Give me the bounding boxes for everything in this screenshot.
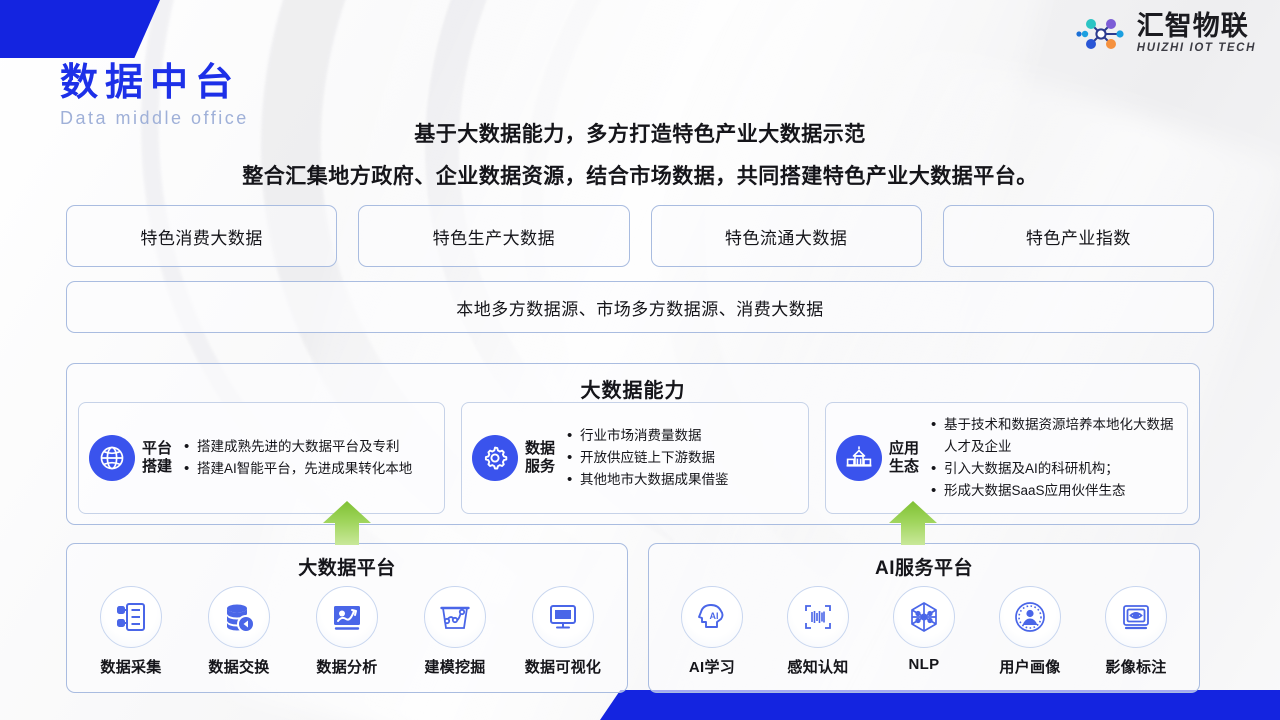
neural-network-icon [893,586,955,648]
database-exchange-icon [208,586,270,648]
platform-item-data-visualization[interactable]: 数据可视化 [513,586,613,677]
capability-bullets-data-service: 行业市场消费量数据 开放供应链上下游数据 其他地市大数据成果借鉴 [565,425,800,491]
platform-item-nlp[interactable]: NLP [874,586,974,677]
corner-accent-bottom-right [600,690,1280,720]
headline-line-1: 基于大数据能力，多方打造特色产业大数据示范 [0,118,1280,148]
platform-item-label: NLP [909,656,940,673]
data-collection-icon [100,586,162,648]
category-box-consumption[interactable]: 特色消费大数据 [66,205,337,267]
capability-label-line2: 生态 [889,458,919,476]
molecule-network-icon [1074,12,1128,56]
platform-ai-service: AI服务平台 AI AI学习 [648,543,1200,693]
chart-analysis-icon [316,586,378,648]
capability-bullets-ecosystem: 基于技术和数据资源培养本地化大数据人才及企业 引入大数据及AI的科研机构； 形成… [929,414,1179,501]
platform-item-label: 感知认知 [787,656,848,677]
model-mining-icon [424,586,486,648]
category-box-circulation[interactable]: 特色流通大数据 [651,205,922,267]
platform-item-ai-learning[interactable]: AI AI学习 [662,586,762,677]
category-row: 特色消费大数据 特色生产大数据 特色流通大数据 特色产业指数 [66,205,1214,267]
capability-card-data-service[interactable]: 数据 服务 行业市场消费量数据 开放供应链上下游数据 其他地市大数据成果借鉴 [461,402,809,514]
capability-bullet: 形成大数据SaaS应用伙伴生态 [929,480,1179,502]
capability-card-label-ecosystem: 应用 生态 [889,440,919,477]
category-box-index[interactable]: 特色产业指数 [943,205,1214,267]
platform-item-label: 数据采集 [100,656,161,677]
user-profile-icon [999,586,1061,648]
platform-item-user-profile[interactable]: 用户画像 [980,586,1080,677]
platform-ai-service-title: AI服务平台 [649,553,1199,580]
capability-bullet: 搭建AI智能平台，先进成果转化本地 [182,458,436,480]
slide-root: 汇智物联 HUIZHI IOT TECH 数据中台 Data middle of… [0,0,1280,720]
capability-card-list: 平台 搭建 搭建成熟先进的大数据平台及专利 搭建AI智能平台，先进成果转化本地 [78,402,1188,514]
platform-item-data-exchange[interactable]: 数据交换 [189,586,289,677]
capability-section: 大数据能力 平台 搭建 搭建成熟先 [66,363,1200,525]
headline-line-2: 整合汇集地方政府、企业数据资源，结合市场数据，共同搭建特色产业大数据平台。 [0,160,1280,190]
monitor-visualization-icon [532,586,594,648]
institution-icon [836,435,882,481]
platform-ai-service-items: AI AI学习 [659,586,1189,677]
capability-bullets-platform: 搭建成熟先进的大数据平台及专利 搭建AI智能平台，先进成果转化本地 [182,436,436,480]
capability-label-line2: 搭建 [142,458,172,476]
data-source-bar: 本地多方数据源、市场多方数据源、消费大数据 [66,281,1214,333]
platform-big-data-title: 大数据平台 [67,553,627,580]
barcode-scan-icon [787,586,849,648]
capability-card-label-platform: 平台 搭建 [142,440,172,477]
capability-label-line1: 应用 [889,440,919,458]
capability-label-line1: 数据 [525,440,555,458]
platform-item-label: 数据可视化 [525,656,602,677]
logo-name-cn: 汇智物联 [1137,13,1256,40]
platform-big-data-items: 数据采集 数据交换 [77,586,617,677]
capability-bullet: 基于技术和数据资源培养本地化大数据人才及企业 [929,414,1179,458]
capability-bullet: 其他地市大数据成果借鉴 [565,469,800,491]
logo-text-block: 汇智物联 HUIZHI IOT TECH [1137,13,1256,55]
svg-text:AI: AI [710,611,719,621]
eye-label-icon [1105,586,1167,648]
platform-item-label: 用户画像 [999,656,1060,677]
platform-big-data: 大数据平台 数据采集 [66,543,628,693]
capability-bullet: 开放供应链上下游数据 [565,447,800,469]
capability-label-line1: 平台 [142,440,172,458]
page-title: 数据中台 [60,64,249,104]
globe-icon [89,435,135,481]
platform-item-label: 影像标注 [1105,656,1166,677]
platform-item-image-annotation[interactable]: 影像标注 [1086,586,1186,677]
platform-item-data-collection[interactable]: 数据采集 [81,586,181,677]
capability-card-ecosystem[interactable]: 应用 生态 基于技术和数据资源培养本地化大数据人才及企业 引入大数据及AI的科研… [825,402,1188,514]
upward-arrow-right [888,500,938,546]
capability-card-platform[interactable]: 平台 搭建 搭建成熟先进的大数据平台及专利 搭建AI智能平台，先进成果转化本地 [78,402,445,514]
platform-item-label: AI学习 [689,656,735,677]
gear-icon [472,435,518,481]
capability-bullet: 行业市场消费量数据 [565,425,800,447]
capability-bullet: 引入大数据及AI的科研机构； [929,458,1179,480]
platform-item-perception[interactable]: 感知认知 [768,586,868,677]
corner-accent-top-left [0,0,160,58]
ai-head-icon: AI [681,586,743,648]
platform-item-label: 数据交换 [208,656,269,677]
brand-logo: 汇智物联 HUIZHI IOT TECH [1074,12,1256,56]
category-box-production[interactable]: 特色生产大数据 [358,205,629,267]
capability-label-line2: 服务 [525,458,555,476]
logo-name-en: HUIZHI IOT TECH [1137,43,1256,55]
capability-bullet: 搭建成熟先进的大数据平台及专利 [182,436,436,458]
platform-item-model-mining[interactable]: 建模挖掘 [405,586,505,677]
capability-card-label-data-service: 数据 服务 [525,440,555,477]
capability-section-title: 大数据能力 [67,374,1199,403]
platform-item-label: 建模挖掘 [424,656,485,677]
platform-item-label: 数据分析 [316,656,377,677]
upward-arrow-left [322,500,372,546]
platform-item-data-analysis[interactable]: 数据分析 [297,586,397,677]
